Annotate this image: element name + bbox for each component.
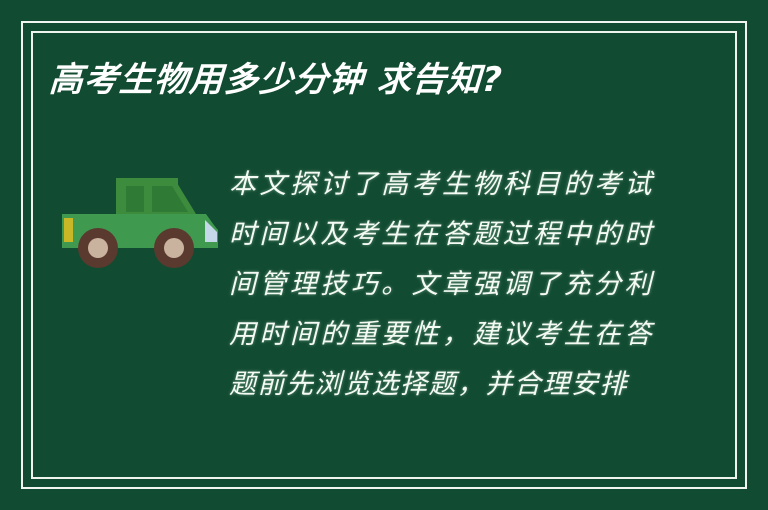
truck-illustration bbox=[56, 172, 228, 272]
page-title: 高考生物用多少分钟 求告知? bbox=[48, 62, 690, 99]
body-paragraph: 本文探讨了高考生物科目的考试时间以及考生在答题过程中的时间管理技巧。文章强调了充… bbox=[229, 160, 653, 410]
poster-canvas: 高考生物用多少分钟 求告知? 本文探讨了高考生物科目的考试时间以及考 bbox=[0, 0, 768, 510]
body-text-block: 本文探讨了高考生物科目的考试时间以及考生在答题过程中的时间管理技巧。文章强调了充… bbox=[229, 160, 653, 410]
pickup-truck-icon bbox=[56, 172, 228, 272]
